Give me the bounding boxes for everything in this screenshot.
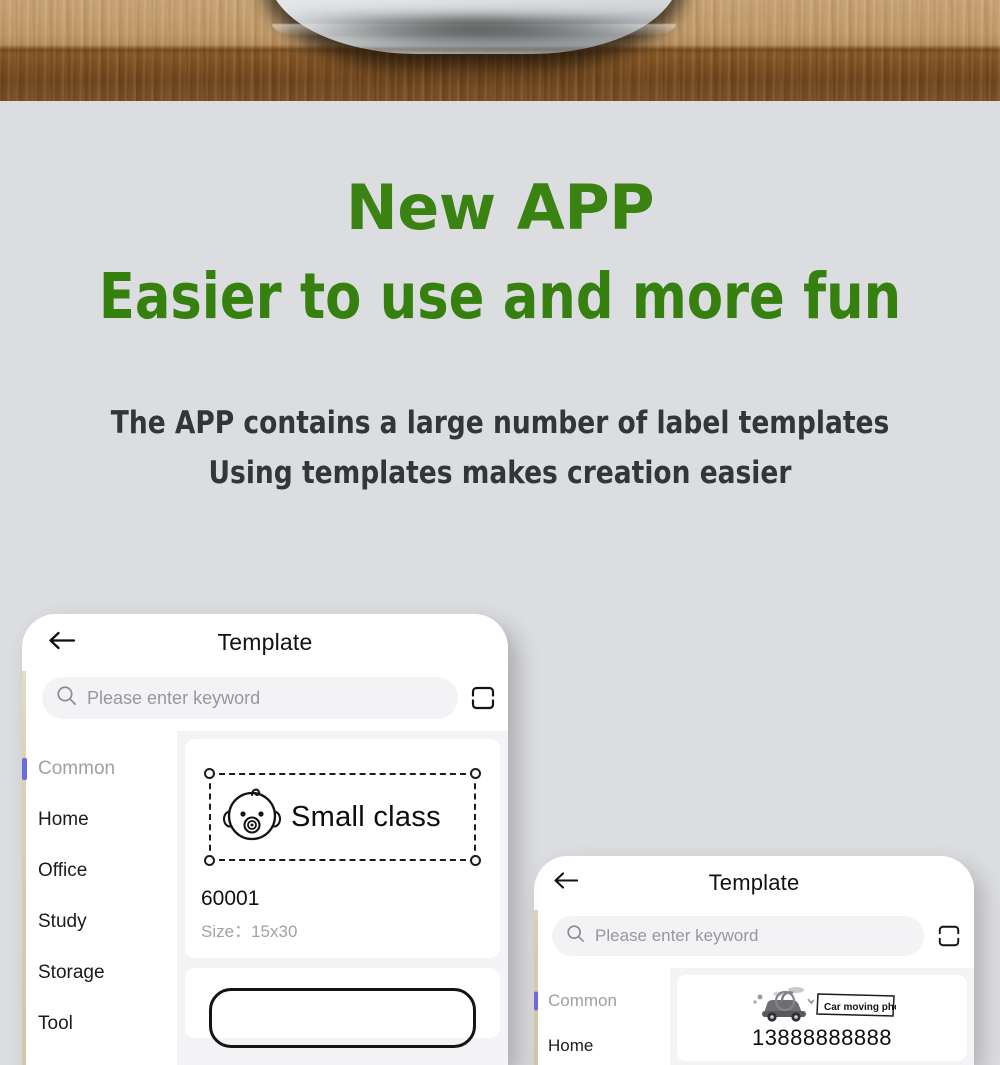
car-illustration: Car moving phone [687, 985, 957, 1023]
label-selection-frame[interactable]: Small class [209, 773, 476, 861]
back-arrow-icon[interactable] [46, 629, 76, 656]
sidebar-item-common[interactable]: Common [22, 743, 177, 794]
resize-handle-bottom-left[interactable] [204, 855, 215, 866]
desk-edge-line [0, 48, 1000, 53]
svg-text:Car moving phone: Car moving phone [824, 1002, 896, 1013]
subtitle-line-2: Using templates makes creation easier [25, 448, 975, 498]
back-arrow-icon[interactable] [552, 871, 578, 896]
sidebar-item-label: Common [38, 758, 115, 780]
template-size-value: 15x30 [251, 922, 297, 941]
template-list-secondary: Car moving phone 13888888888 [670, 968, 974, 1065]
sidebar-item-label: Home [548, 1036, 593, 1056]
search-placeholder: Please enter keyword [87, 688, 260, 709]
scan-icon[interactable] [458, 685, 508, 711]
sidebar-item-label: Office [38, 860, 87, 882]
promo-page: New APP Easier to use and more fun The A… [0, 0, 1000, 1065]
template-card[interactable]: Car moving phone 13888888888 [677, 975, 967, 1061]
headline-primary: New APP [0, 176, 1000, 239]
scan-icon[interactable] [924, 924, 974, 948]
sidebar-item-label: Home [38, 809, 89, 831]
sidebar-item-common[interactable]: Common [534, 978, 670, 1023]
sidebar-item-home[interactable]: Home [534, 1023, 670, 1065]
hero-subtitle-group: The APP contains a large number of label… [0, 398, 1000, 498]
sidebar-item-home[interactable]: Home [22, 794, 177, 845]
template-size-label: Size： [201, 922, 251, 941]
desk-photo-band [0, 0, 1000, 101]
search-input[interactable]: Please enter keyword [552, 916, 924, 956]
resize-handle-top-left[interactable] [204, 768, 215, 779]
sidebar-item-label: Common [548, 991, 617, 1011]
template-card[interactable] [185, 968, 500, 1038]
search-icon [56, 685, 77, 711]
app-navbar-secondary: Template [534, 856, 974, 910]
sidebar-item-office[interactable]: Office [22, 845, 177, 896]
template-phone-number: 13888888888 [687, 1025, 957, 1051]
search-placeholder: Please enter keyword [595, 926, 758, 946]
template-card[interactable]: Small class 60001 Size：15x30 [185, 739, 500, 958]
template-label-text: Small class [291, 801, 441, 834]
app-body-secondary: Common Home [534, 968, 974, 1065]
search-input[interactable]: Please enter keyword [42, 677, 458, 719]
category-sidebar-primary: Common Home Office Study Storage Tool [22, 731, 177, 1065]
app-navbar-primary: Template [22, 614, 508, 671]
headline-secondary: Easier to use and more fun [35, 265, 965, 328]
subtitle-line-1: The APP contains a large number of label… [25, 398, 975, 448]
rounded-rect-outline-icon [209, 988, 476, 1048]
sidebar-item-shop[interactable]: Shop [22, 1049, 177, 1065]
resize-handle-bottom-right[interactable] [470, 855, 481, 866]
sidebar-item-storage[interactable]: Storage [22, 947, 177, 998]
search-row-primary: Please enter keyword [22, 671, 508, 731]
sidebar-item-label: Study [38, 911, 87, 933]
sidebar-item-study[interactable]: Study [22, 896, 177, 947]
hero-headline-group: New APP Easier to use and more fun [0, 176, 1000, 328]
baby-face-icon [221, 786, 283, 849]
sidebar-item-label: Storage [38, 962, 105, 984]
resize-handle-top-right[interactable] [470, 768, 481, 779]
template-size: Size：15x30 [201, 917, 486, 942]
template-code: 60001 [201, 887, 486, 911]
app-body-primary: Common Home Office Study Storage Tool [22, 731, 508, 1065]
sidebar-item-label: Tool [38, 1013, 73, 1035]
page-title: Template [709, 870, 800, 896]
category-sidebar-secondary: Common Home [534, 968, 670, 1065]
laptop-shadow [292, 18, 662, 48]
phone-mockup-primary: Template Please enter keyword [22, 614, 508, 1065]
phone-mockup-secondary: Template Please enter keyword [534, 856, 974, 1065]
search-row-secondary: Please enter keyword [534, 910, 974, 968]
sidebar-item-tool[interactable]: Tool [22, 998, 177, 1049]
search-icon [566, 924, 585, 948]
page-title: Template [218, 629, 313, 656]
template-list-primary: Small class 60001 Size：15x30 [177, 731, 508, 1065]
